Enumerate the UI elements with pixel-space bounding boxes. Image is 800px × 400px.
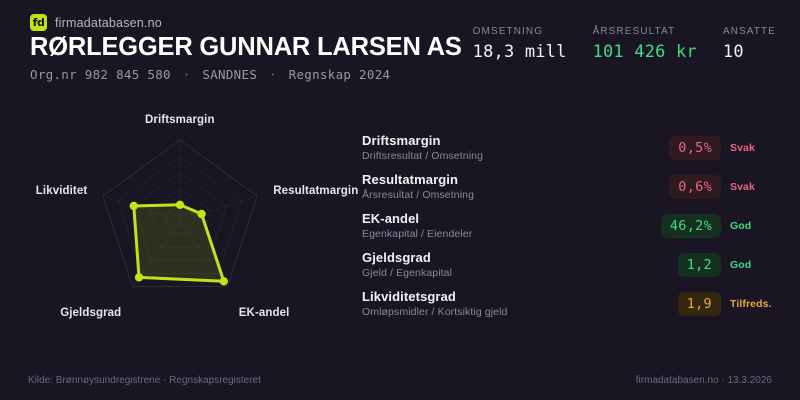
kpi-group: OMSETNING 18,3 mill ÅRSRESULTAT 101 426 …	[473, 26, 776, 62]
company-accounting-year: Regnskap 2024	[289, 67, 391, 82]
metric-text: Likviditetsgrad Omløpsmidler / Kortsikti…	[362, 289, 630, 318]
metric-formula: Omløpsmidler / Kortsiktig gjeld	[362, 306, 630, 318]
company-orgnr: Org.nr 982 845 580	[30, 67, 171, 82]
meta-separator-2: ·	[265, 67, 281, 82]
metric-right: 0,5% Svak	[630, 136, 782, 160]
metric-value-chip: 0,5%	[669, 136, 721, 160]
brand-name: firmadatabasen.no	[55, 16, 162, 30]
radar-axis-label-gjeldsgrad: Gjeldsgrad	[60, 307, 121, 319]
metric-row: Likviditetsgrad Omløpsmidler / Kortsikti…	[362, 284, 782, 323]
metric-text: Driftsmargin Driftsresultat / Omsetning	[362, 133, 630, 162]
metric-row: Gjeldsgrad Gjeld / Egenkapital 1,2 God	[362, 245, 782, 284]
metric-formula: Driftsresultat / Omsetning	[362, 150, 630, 162]
brand[interactable]: fd firmadatabasen.no	[30, 14, 162, 31]
kpi-label: ANSATTE	[723, 26, 776, 37]
metric-right: 1,9 Tilfreds.	[630, 292, 782, 316]
kpi-arsresultat: ÅRSRESULTAT 101 426 kr	[593, 26, 697, 62]
kpi-value: 18,3 mill	[473, 42, 567, 62]
radar-axis-label-ek-andel: EK-andel	[239, 307, 290, 319]
metric-right: 0,6% Svak	[630, 175, 782, 199]
page-title: RØRLEGGER GUNNAR LARSEN AS	[30, 33, 462, 62]
kpi-omsetning: OMSETNING 18,3 mill	[473, 26, 567, 62]
metric-formula: Årsresultat / Omsetning	[362, 189, 630, 201]
metric-name: Resultatmargin	[362, 172, 630, 187]
report-card: fd firmadatabasen.no RØRLEGGER GUNNAR LA…	[0, 0, 800, 400]
metric-value-chip: 0,6%	[669, 175, 721, 199]
firmadatabasen-logo-icon: fd	[30, 14, 47, 31]
metric-formula: Gjeld / Egenkapital	[362, 267, 630, 279]
metrics-list: Driftsmargin Driftsresultat / Omsetning …	[362, 128, 782, 323]
metric-value-chip: 46,2%	[661, 214, 721, 238]
metric-name: EK-andel	[362, 211, 630, 226]
metric-text: EK-andel Egenkapital / Eiendeler	[362, 211, 630, 240]
header: fd firmadatabasen.no RØRLEGGER GUNNAR LA…	[0, 0, 800, 88]
metric-right: 46,2% God	[630, 214, 782, 238]
kpi-label: ÅRSRESULTAT	[593, 26, 697, 37]
metric-text: Resultatmargin Årsresultat / Omsetning	[362, 172, 630, 201]
metric-name: Likviditetsgrad	[362, 289, 630, 304]
radar-axis-label-driftsmargin: Driftsmargin	[145, 114, 215, 126]
kpi-ansatte: ANSATTE 10	[723, 26, 776, 62]
metric-row: Driftsmargin Driftsresultat / Omsetning …	[362, 128, 782, 167]
metric-text: Gjeldsgrad Gjeld / Egenkapital	[362, 250, 630, 279]
radar-axis-label-likviditet: Likviditet	[36, 185, 87, 197]
status-badge: God	[730, 259, 782, 271]
status-badge: Svak	[730, 181, 782, 193]
company-city: SANDNES	[202, 67, 257, 82]
radar-axis-label-resultatmargin: Resultatmargin	[273, 185, 358, 197]
radar-chart: Driftsmargin Resultatmargin EK-andel Gje…	[0, 88, 360, 348]
status-badge: Tilfreds.	[730, 298, 782, 310]
footer: Kilde: Brønnøysundregistrene · Regnskaps…	[0, 368, 800, 400]
metric-row: EK-andel Egenkapital / Eiendeler 46,2% G…	[362, 206, 782, 245]
status-badge: God	[730, 220, 782, 232]
metric-name: Gjeldsgrad	[362, 250, 630, 265]
footer-source: Kilde: Brønnøysundregistrene · Regnskaps…	[28, 375, 261, 386]
metric-formula: Egenkapital / Eiendeler	[362, 228, 630, 240]
metric-name: Driftsmargin	[362, 133, 630, 148]
metric-right: 1,2 God	[630, 253, 782, 277]
radar-chart-svg	[0, 88, 360, 348]
footer-stamp: firmadatabasen.no · 13.3.2026	[636, 375, 772, 386]
metric-value-chip: 1,2	[678, 253, 721, 277]
kpi-value: 101 426 kr	[593, 42, 697, 62]
kpi-label: OMSETNING	[473, 26, 567, 37]
meta-separator-1: ·	[179, 67, 195, 82]
company-meta: Org.nr 982 845 580 · SANDNES · Regnskap …	[30, 67, 390, 82]
metric-row: Resultatmargin Årsresultat / Omsetning 0…	[362, 167, 782, 206]
status-badge: Svak	[730, 142, 782, 154]
metric-value-chip: 1,9	[678, 292, 721, 316]
kpi-value: 10	[723, 42, 776, 62]
